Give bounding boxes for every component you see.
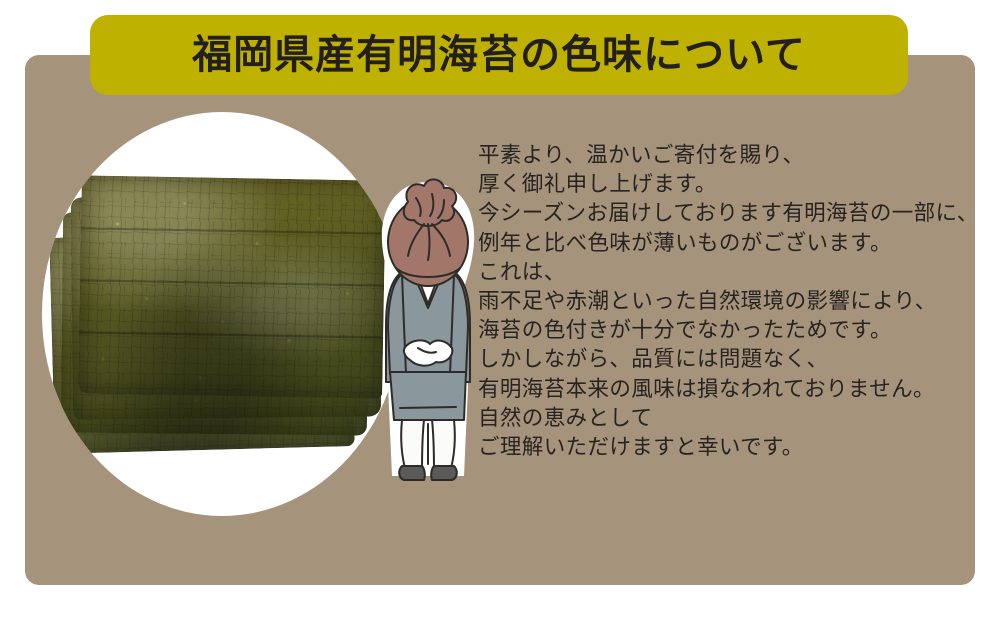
title-banner: 福岡県産有明海苔の色味について xyxy=(90,15,908,95)
message-line: これは、 xyxy=(478,258,978,287)
message-line: 厚く御礼申し上げます。 xyxy=(478,170,978,199)
nori-sheet xyxy=(78,175,386,398)
message-line: 自然の恵みとして xyxy=(478,404,978,433)
message-line: ご理解いただけますと幸いです。 xyxy=(478,433,978,462)
message-body: 平素より、温かいご寄付を賜り、 厚く御礼申し上げます。 今シーズンお届けしており… xyxy=(478,141,978,462)
message-line: 雨不足や赤潮といった自然環境の影響により、 xyxy=(478,287,978,316)
nori-seaweed-photo xyxy=(50,170,394,470)
leg-left xyxy=(401,420,424,472)
nori-texture xyxy=(78,175,386,398)
message-line: 例年と比べ色味が薄いものがございます。 xyxy=(478,229,978,258)
page-canvas: 福岡県産有明海苔の色味について xyxy=(0,0,1000,620)
skirt-hem-line xyxy=(400,407,456,408)
leg-right xyxy=(432,420,455,472)
bowing-woman-svg xyxy=(372,176,484,488)
message-line: 今シーズンお届けしております有明海苔の一部に、 xyxy=(478,199,978,228)
shoe-right xyxy=(431,466,457,480)
message-line: しかしながら、品質には問題なく、 xyxy=(478,345,978,374)
message-line: 海苔の色付きが十分でなかったためです。 xyxy=(478,316,978,345)
bowing-woman-illustration xyxy=(372,176,484,488)
suit-skirt xyxy=(390,372,466,420)
product-photo-circle xyxy=(42,112,402,516)
hair-bun xyxy=(404,179,456,226)
page-title: 福岡県産有明海苔の色味について xyxy=(192,35,806,75)
shoe-left xyxy=(399,466,425,480)
message-line: 平素より、温かいご寄付を賜り、 xyxy=(478,141,978,170)
message-line: 有明海苔本来の風味は損なわれておりません。 xyxy=(478,375,978,404)
